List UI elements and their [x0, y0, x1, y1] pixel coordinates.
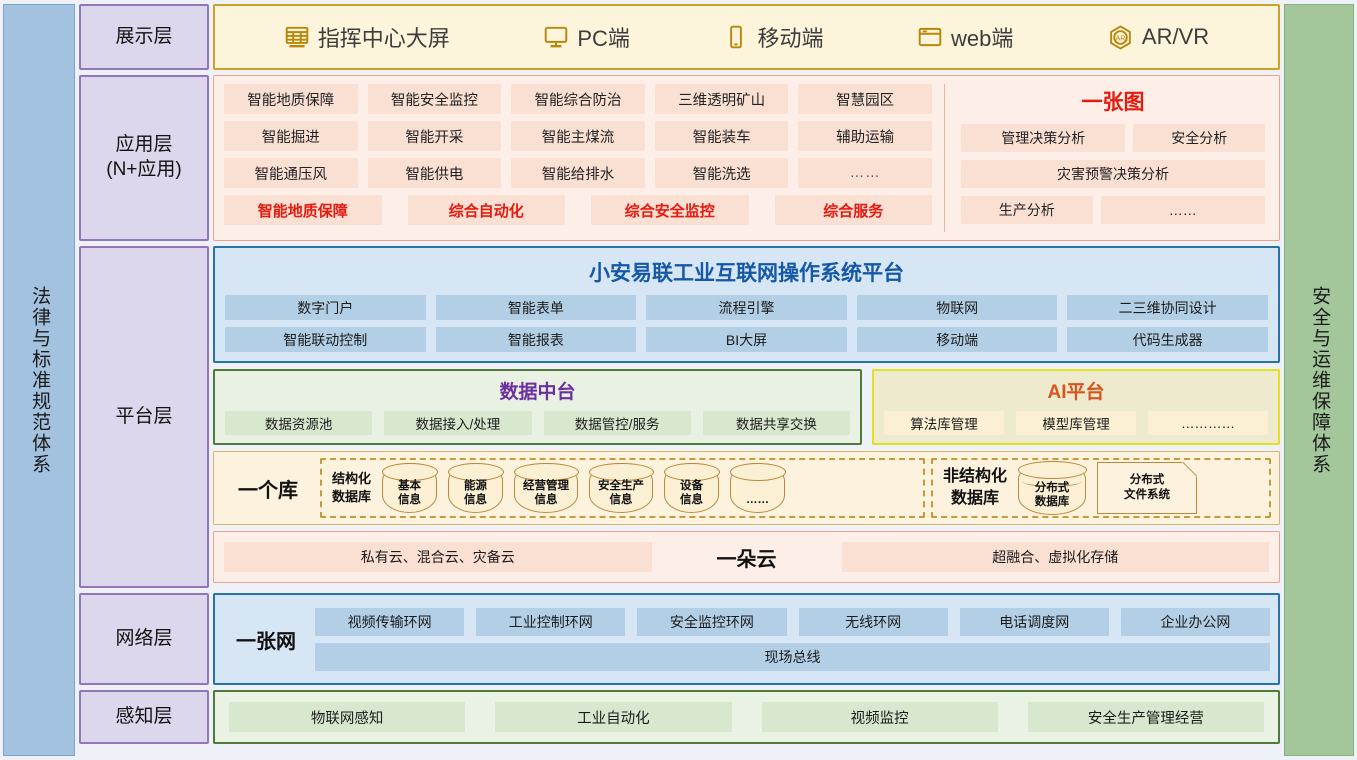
app-cell[interactable]: 智能地质保障 [224, 84, 358, 114]
data-middle-cell[interactable]: 数据接入/处理 [384, 411, 531, 435]
platform-layer-stack: 小安易联工业互联网操作系统平台 数字门户 智能表单 流程引擎 物联网 二三维协同… [213, 246, 1280, 588]
os-platform-cell[interactable]: 二三维协同设计 [1067, 295, 1268, 320]
perception-cell[interactable]: 视频监控 [762, 702, 998, 732]
one-map-row: 灾害预警决策分析 [961, 160, 1265, 188]
cylinder-line2: 信息 [464, 494, 487, 506]
presentation-item-arvr[interactable]: AR AR/VR [1107, 24, 1209, 51]
application-divider [944, 84, 945, 232]
one-cloud-box: 私有云、混合云、灾备云 一朵云 超融合、虚拟化存储 [213, 531, 1280, 583]
presentation-item-pc[interactable]: PC端 [543, 21, 630, 53]
network-layer-row: 一张网 视频传输环网 工业控制环网 安全监控环网 无线环网 电话调度网 企业办公… [213, 593, 1280, 685]
cylinder-line1: 经营管理 [523, 480, 569, 492]
application-highlight-row: 智能地质保障 综合自动化 综合安全监控 综合服务 [224, 195, 932, 225]
layer-label-application-text: 应用层 (N+应用) [106, 133, 181, 182]
app-highlight-cell[interactable]: 综合安全监控 [591, 195, 749, 225]
unstructured-database-label: 非结构化 数据库 [943, 466, 1007, 509]
app-cell[interactable]: 智能给排水 [511, 158, 645, 188]
app-highlight-cell[interactable]: 综合自动化 [408, 195, 566, 225]
cloud-cell-right[interactable]: 超融合、虚拟化存储 [842, 542, 1270, 572]
one-map-cell[interactable]: 灾害预警决策分析 [961, 160, 1265, 188]
data-ai-row: 数据中台 数据资源池 数据接入/处理 数据管控/服务 数据共享交换 AI平台 算… [213, 369, 1280, 445]
app-cell[interactable]: 智能装车 [655, 121, 789, 151]
cylinder-line2: 信息 [610, 494, 633, 506]
os-platform-cell[interactable]: 数字门户 [225, 295, 426, 320]
svg-text:AR: AR [1115, 33, 1125, 42]
one-map-title: 一张图 [961, 86, 1265, 116]
right-sidebar-security-ops: 安全与运维保障体系 [1284, 4, 1354, 756]
database-cylinder[interactable]: 基本 信息 [382, 463, 437, 513]
layer-label-platform[interactable]: 平台层 [79, 246, 209, 588]
one-map-cell[interactable]: 生产分析 [961, 196, 1093, 224]
application-layer-box: 智能地质保障 智能安全监控 智能综合防治 三维透明矿山 智慧园区 智能掘进 智能… [213, 75, 1280, 241]
os-platform-cell[interactable]: 代码生成器 [1067, 327, 1268, 352]
presentation-item-command-center[interactable]: 指挥中心大屏 [284, 21, 450, 53]
cylinder-line2: 信息 [398, 494, 421, 506]
presentation-layer-row: 指挥中心大屏 PC端 [213, 4, 1280, 70]
cylinder-line1: …… [746, 494, 769, 506]
presentation-item-label: PC端 [577, 21, 630, 53]
one-map-cell[interactable]: 安全分析 [1133, 124, 1265, 152]
cylinder-line2: 信息 [680, 494, 703, 506]
cylinder-line1: 基本 [398, 480, 421, 492]
big-screen-icon [284, 24, 310, 50]
document-line1: 分布式 [1130, 474, 1165, 486]
layer-label-platform-text: 平台层 [115, 405, 172, 430]
layer-label-network-text: 网络层 [115, 627, 172, 652]
network-cell[interactable]: 安全监控环网 [637, 608, 786, 636]
ai-platform-cell[interactable]: 模型库管理 [1016, 411, 1136, 435]
app-cell[interactable]: 智能供电 [368, 158, 502, 188]
one-map-cell[interactable]: 管理决策分析 [961, 124, 1125, 152]
app-cell[interactable]: 辅助运输 [798, 121, 932, 151]
ai-platform-items: 算法库管理 模型库管理 ………… [884, 411, 1268, 435]
distributed-filesystem-document[interactable]: 分布式 文件系统 [1097, 462, 1197, 514]
cylinder-line1: 分布式 [1035, 482, 1070, 494]
os-platform-title: 小安易联工业互联网操作系统平台 [225, 257, 1268, 287]
app-highlight-cell[interactable]: 综合服务 [775, 195, 933, 225]
app-cell[interactable]: 智能主煤流 [511, 121, 645, 151]
cylinder-line1: 能源 [464, 480, 487, 492]
app-cell[interactable]: 三维透明矿山 [655, 84, 789, 114]
database-cylinder[interactable]: 安全生产 信息 [589, 463, 653, 513]
application-row: 智能地质保障 智能安全监控 智能综合防治 三维透明矿山 智慧园区 [224, 84, 932, 114]
data-middle-cell[interactable]: 数据共享交换 [703, 411, 850, 435]
content-column: 指挥中心大屏 PC端 [213, 4, 1280, 756]
layer-label-network[interactable]: 网络层 [79, 593, 209, 685]
unstructured-database-group: 非结构化 数据库 分布式 数据库 分布式 文件系统 [931, 458, 1271, 518]
application-row: 智能掘进 智能开采 智能主煤流 智能装车 辅助运输 [224, 121, 932, 151]
database-cylinder-ellipsis: …… [730, 463, 785, 513]
one-map-row: 管理决策分析 安全分析 [961, 124, 1265, 152]
ai-platform-cell[interactable]: 算法库管理 [884, 411, 1004, 435]
data-middle-items: 数据资源池 数据接入/处理 数据管控/服务 数据共享交换 [225, 411, 850, 435]
cloud-cell-left[interactable]: 私有云、混合云、灾备云 [224, 542, 652, 572]
app-cell[interactable]: 智能安全监控 [368, 84, 502, 114]
left-sidebar-legal-standards: 法律与标准规范体系 [3, 4, 75, 756]
app-cell[interactable]: 智能洗选 [655, 158, 789, 188]
perception-layer-row: 物联网感知 工业自动化 视频监控 安全生产管理经营 [213, 690, 1280, 744]
os-platform-cell[interactable]: 流程引擎 [646, 295, 847, 320]
os-platform-cell[interactable]: 智能表单 [436, 295, 637, 320]
one-map-row: 生产分析 …… [961, 196, 1265, 224]
ar-hexagon-icon: AR [1107, 24, 1134, 51]
presentation-item-mobile[interactable]: 移动端 [723, 21, 823, 53]
os-platform-box: 小安易联工业互联网操作系统平台 数字门户 智能表单 流程引擎 物联网 二三维协同… [213, 246, 1280, 363]
presentation-item-web[interactable]: web端 [917, 21, 1013, 53]
app-cell[interactable]: 智能掘进 [224, 121, 358, 151]
one-map-cell-ellipsis: …… [1101, 196, 1265, 224]
perception-layer-box: 物联网感知 工业自动化 视频监控 安全生产管理经营 [213, 690, 1280, 744]
layer-label-presentation[interactable]: 展示层 [79, 4, 209, 70]
data-middle-title: 数据中台 [225, 377, 850, 404]
monitor-icon [543, 24, 569, 50]
os-platform-row: 数字门户 智能表单 流程引擎 物联网 二三维协同设计 [225, 295, 1268, 320]
right-sidebar-label: 安全与运维保障体系 [1307, 286, 1331, 475]
perception-cell[interactable]: 物联网感知 [229, 702, 465, 732]
cylinder-line1: 安全生产 [598, 480, 644, 492]
one-cloud-title: 一朵云 [662, 543, 832, 572]
one-network-title: 一张网 [223, 625, 309, 654]
network-content: 视频传输环网 工业控制环网 安全监控环网 无线环网 电话调度网 企业办公网 现场… [315, 608, 1270, 671]
web-window-icon [917, 24, 943, 50]
presentation-item-label: 指挥中心大屏 [318, 21, 450, 53]
network-cell[interactable]: 企业办公网 [1121, 608, 1270, 636]
app-cell[interactable]: 智能综合防治 [511, 84, 645, 114]
layer-label-application-line1: 应用层 [115, 134, 172, 155]
network-items-row: 视频传输环网 工业控制环网 安全监控环网 无线环网 电话调度网 企业办公网 [315, 608, 1270, 636]
cylinder-line2: 数据库 [1035, 496, 1070, 508]
one-database-title: 一个库 [222, 474, 314, 503]
layer-label-presentation-text: 展示层 [115, 25, 172, 50]
mobile-icon [723, 24, 749, 50]
platform-layer-row: 小安易联工业互联网操作系统平台 数字门户 智能表单 流程引擎 物联网 二三维协同… [213, 246, 1280, 588]
distributed-database-cylinder[interactable]: 分布式 数据库 [1018, 461, 1086, 515]
layer-label-application-line2: (N+应用) [106, 159, 181, 180]
os-platform-cell[interactable]: 智能报表 [436, 327, 637, 352]
left-sidebar-label: 法律与标准规范体系 [27, 286, 51, 475]
one-map-panel: 一张图 管理决策分析 安全分析 灾害预警决策分析 生产分析 …… [953, 82, 1273, 234]
structured-label-line1: 结构化 [332, 471, 371, 486]
presentation-item-label: 移动端 [757, 21, 823, 53]
network-layer-box: 一张网 视频传输环网 工业控制环网 安全监控环网 无线环网 电话调度网 企业办公… [213, 593, 1280, 685]
os-platform-cell[interactable]: BI大屏 [646, 327, 847, 352]
ai-platform-box: AI平台 算法库管理 模型库管理 ………… [872, 369, 1280, 445]
structured-label-line2: 数据库 [332, 489, 371, 504]
document-line2: 文件系统 [1124, 489, 1170, 501]
os-platform-cell[interactable]: 移动端 [857, 327, 1058, 352]
presentation-item-label: web端 [951, 21, 1013, 53]
app-cell-ellipsis: …… [798, 158, 932, 188]
os-platform-cell[interactable]: 智能联动控制 [225, 327, 426, 352]
application-layer-row: 智能地质保障 智能安全监控 智能综合防治 三维透明矿山 智慧园区 智能掘进 智能… [213, 75, 1280, 241]
presentation-layer-box: 指挥中心大屏 PC端 [213, 4, 1280, 70]
database-cylinder[interactable]: 能源 信息 [448, 463, 503, 513]
structured-database-label: 结构化 数据库 [332, 470, 371, 505]
network-cell[interactable]: 视频传输环网 [315, 608, 464, 636]
app-highlight-cell[interactable]: 智能地质保障 [224, 195, 382, 225]
cylinder-line1: 设备 [680, 480, 703, 492]
network-cell[interactable]: 工业控制环网 [476, 608, 625, 636]
ai-platform-title: AI平台 [884, 377, 1268, 404]
unstructured-label-line2: 数据库 [951, 490, 999, 507]
network-fieldbus[interactable]: 现场总线 [315, 643, 1270, 671]
layer-label-application[interactable]: 应用层 (N+应用) [79, 75, 209, 241]
app-cell[interactable]: 智能通压风 [224, 158, 358, 188]
network-cell[interactable]: 无线环网 [799, 608, 948, 636]
presentation-item-label: AR/VR [1142, 24, 1209, 50]
os-platform-cell[interactable]: 物联网 [857, 295, 1058, 320]
app-cell[interactable]: 智能开采 [368, 121, 502, 151]
unstructured-label-line1: 非结构化 [943, 468, 1007, 485]
database-cylinder[interactable]: 设备 信息 [664, 463, 719, 513]
data-middle-cell[interactable]: 数据资源池 [225, 411, 372, 435]
data-middle-box: 数据中台 数据资源池 数据接入/处理 数据管控/服务 数据共享交换 [213, 369, 862, 445]
layer-label-column: 展示层 应用层 (N+应用) 平台层 网络层 感知层 [79, 4, 209, 756]
layer-label-perception[interactable]: 感知层 [79, 690, 209, 744]
data-middle-cell[interactable]: 数据管控/服务 [544, 411, 691, 435]
application-grid: 智能地质保障 智能安全监控 智能综合防治 三维透明矿山 智慧园区 智能掘进 智能… [220, 82, 936, 234]
os-platform-row: 智能联动控制 智能报表 BI大屏 移动端 代码生成器 [225, 327, 1268, 352]
database-cylinder[interactable]: 经营管理 信息 [514, 463, 578, 513]
architecture-diagram: 法律与标准规范体系 展示层 应用层 (N+应用) 平台层 网络层 感知层 [0, 0, 1357, 760]
network-cell[interactable]: 电话调度网 [960, 608, 1109, 636]
cylinder-line2: 信息 [535, 494, 558, 506]
app-cell[interactable]: 智慧园区 [798, 84, 932, 114]
structured-database-group: 结构化 数据库 基本 信息 能源 信息 经营管理 [320, 458, 925, 518]
perception-cell[interactable]: 安全生产管理经营 [1028, 702, 1264, 732]
one-database-box: 一个库 结构化 数据库 基本 信息 能源 信息 [213, 451, 1280, 525]
ai-platform-cell-ellipsis: ………… [1148, 411, 1268, 435]
layer-label-perception-text: 感知层 [115, 705, 172, 730]
application-row: 智能通压风 智能供电 智能给排水 智能洗选 …… [224, 158, 932, 188]
perception-cell[interactable]: 工业自动化 [495, 702, 731, 732]
